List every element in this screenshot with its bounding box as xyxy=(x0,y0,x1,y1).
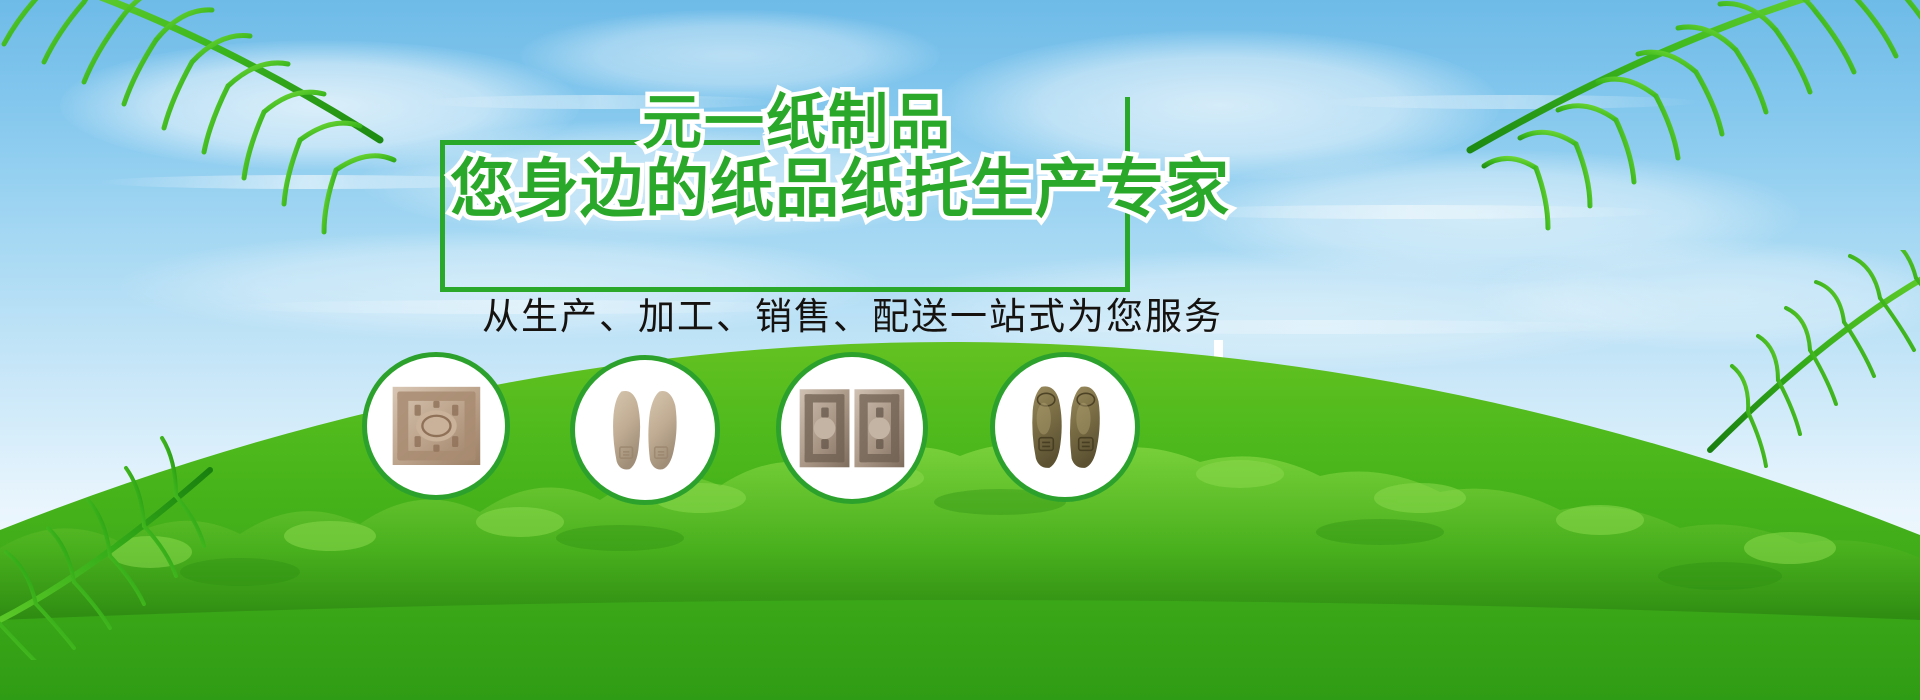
product-circle-molded-pulp-tray[interactable] xyxy=(362,352,510,500)
pulp-shoe-tree-image xyxy=(592,382,698,477)
brand-title: 元一纸制品 xyxy=(642,93,952,153)
subtitle-text: 从生产、加工、销售、配送一站式为您服务 xyxy=(482,286,1223,340)
promo-banner: 元一纸制品 您身边的纸品纸托生产专家 从生产、加工、销售、配送一站式为您服务 xyxy=(0,0,1920,700)
pulp-shoe-form-image xyxy=(1012,379,1118,474)
product-circle-pulp-shoe-tree[interactable] xyxy=(570,355,720,505)
headline-block: 元一纸制品 您身边的纸品纸托生产专家 xyxy=(440,95,1140,235)
headline-text: 您身边的纸品纸托生产专家 xyxy=(450,157,1230,221)
molded-pulp-tray-image xyxy=(384,379,489,473)
frame-line-left xyxy=(440,140,445,292)
green-grass-hill xyxy=(0,280,1920,700)
product-circle-pulp-packaging-pair[interactable] xyxy=(776,352,928,504)
pulp-packaging-pair-image xyxy=(798,380,906,477)
product-circle-pulp-shoe-form[interactable] xyxy=(990,352,1140,502)
